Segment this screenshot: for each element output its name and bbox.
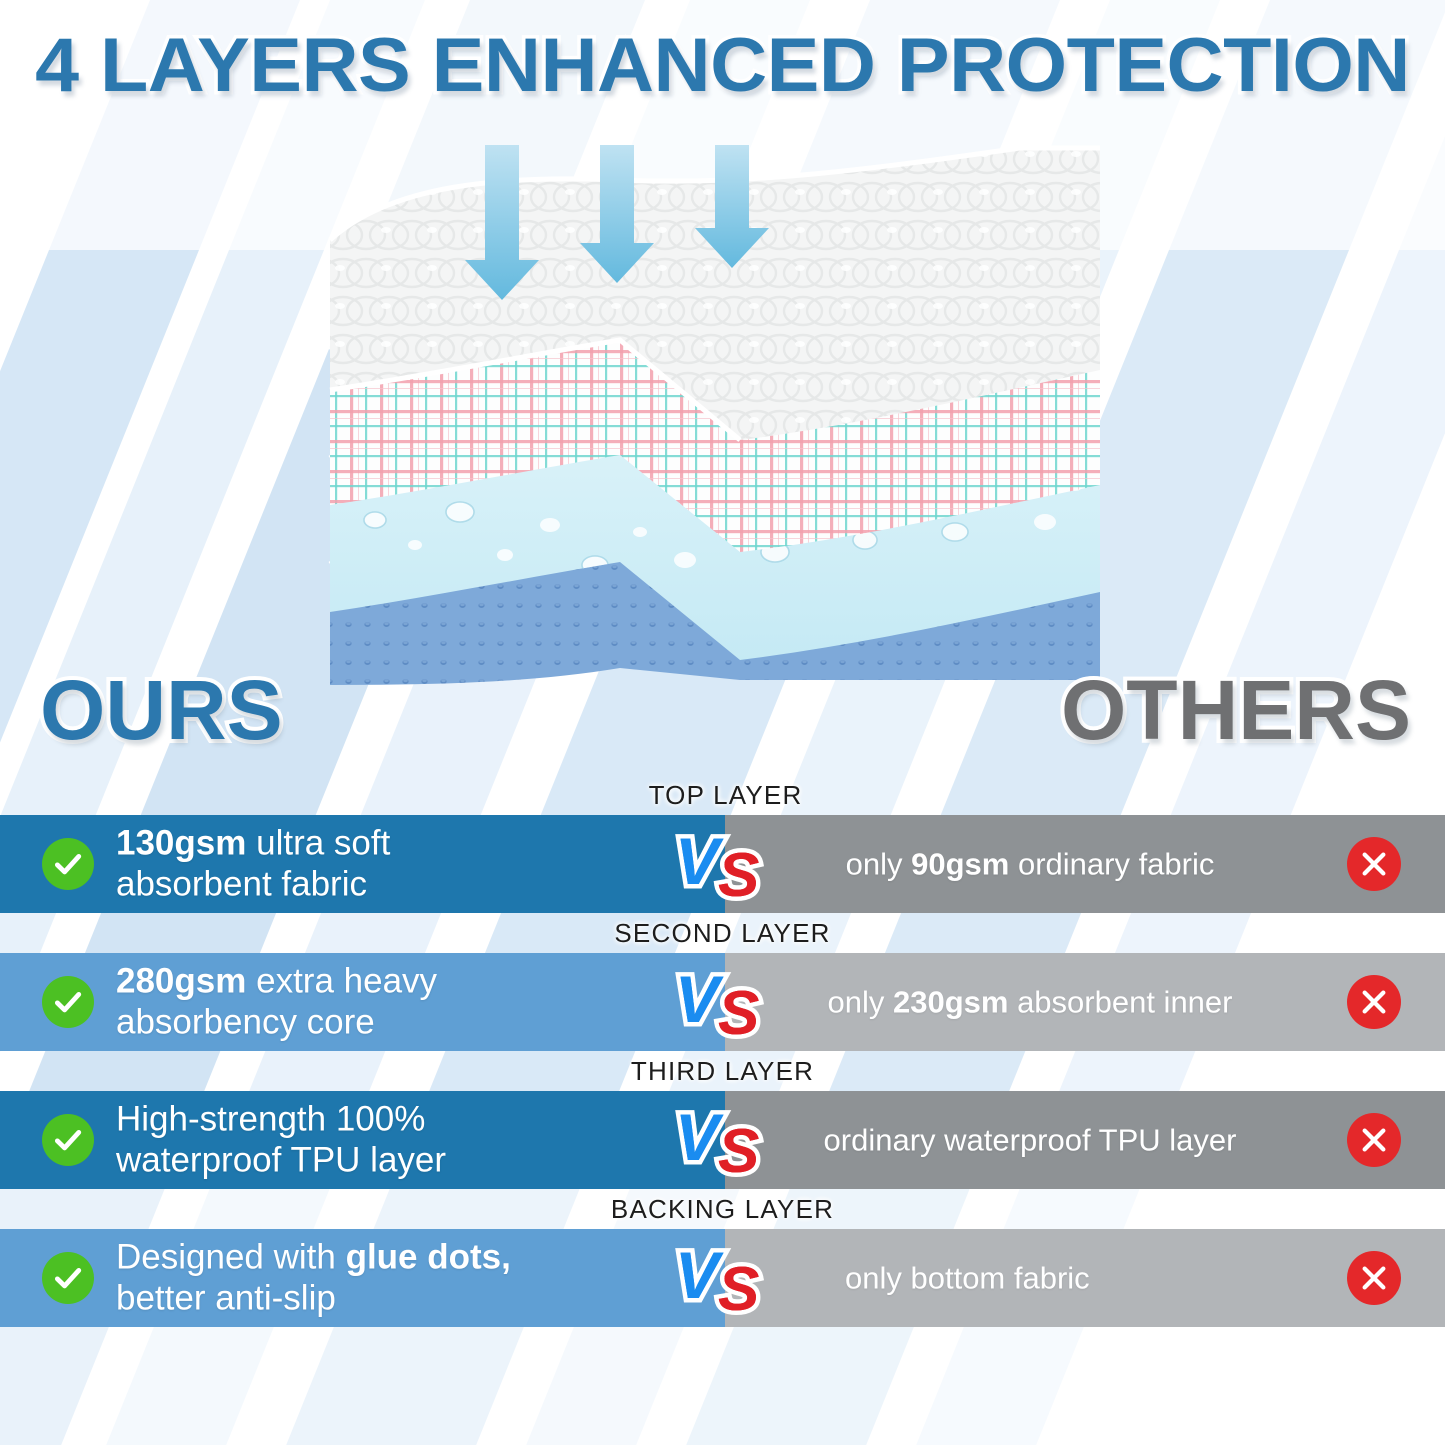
svg-text:V: V [675,824,724,898]
ours-feature-rest: Designed with [116,1237,346,1276]
ours-cell: High-strength 100% waterproof TPU layer [0,1091,725,1189]
comparison-table: TOP LAYER 130gsm ultra soft absorbent fa… [0,775,1445,1327]
others-pre: ordinary waterproof TPU layer [824,1122,1237,1157]
ours-feature-text: 130gsm ultra soft absorbent fabric [116,823,676,904]
ours-feature-rest: ultra soft [246,823,390,862]
layer-label-second: SECOND LAYER [0,913,1445,953]
others-feature-text: only bottom fabric [845,1259,1345,1296]
others-feature-text: only 230gsm absorbent inner [725,983,1335,1020]
ours-feature-text: High-strength 100% waterproof TPU layer [116,1099,676,1180]
vs-badge: V V S S [671,1236,779,1320]
cross-icon [1347,837,1401,891]
vs-badge: V V S S [671,960,779,1044]
others-cell: only 90gsm ordinary fabric [725,815,1445,913]
others-cell: only 230gsm absorbent inner [725,953,1445,1051]
others-highlight: 90gsm [911,846,1009,881]
others-post: ordinary fabric [1009,846,1214,881]
ours-feature-rest: High-strength 100% [116,1099,425,1138]
check-icon [42,1252,94,1304]
svg-text:V: V [675,1238,724,1312]
others-cell: ordinary waterproof TPU layer [725,1091,1445,1189]
others-feature-text: ordinary waterproof TPU layer [725,1121,1335,1158]
comparison-row-second-layer: 280gsm extra heavy absorbency core only … [0,953,1445,1051]
ours-cell: 280gsm extra heavy absorbency core [0,953,725,1051]
layer-label-top: TOP LAYER [0,775,1445,815]
cross-icon [1347,1251,1401,1305]
svg-text:V: V [675,962,724,1036]
others-cell: only bottom fabric [725,1229,1445,1327]
layer-label-backing: BACKING LAYER [0,1189,1445,1229]
ours-feature-text: Designed with glue dots, better anti-sli… [116,1237,676,1318]
ours-feature-highlight: 280gsm [116,961,246,1000]
others-pre: only [828,984,893,1019]
ours-feature-line2: absorbent fabric [116,864,367,903]
svg-text:S: S [718,841,759,906]
svg-text:S: S [718,1117,759,1182]
ours-feature-highlight: glue dots, [346,1237,511,1276]
others-feature-text: only 90gsm ordinary fabric [725,845,1335,882]
others-pre: only bottom fabric [845,1260,1090,1295]
ours-feature-line2: absorbency core [116,1002,375,1041]
others-highlight: 230gsm [893,984,1008,1019]
check-icon [42,838,94,890]
svg-text:S: S [718,979,759,1044]
svg-text:S: S [718,1255,759,1320]
comparison-row-third-layer: High-strength 100% waterproof TPU layer … [0,1091,1445,1189]
ours-feature-line2: better anti-slip [116,1278,336,1317]
check-icon [42,976,94,1028]
cross-icon [1347,975,1401,1029]
svg-text:V: V [675,1100,724,1174]
vs-badge: V V S S [671,1098,779,1182]
comparison-row-backing-layer: Designed with glue dots, better anti-sli… [0,1229,1445,1327]
layer-label-third: THIRD LAYER [0,1051,1445,1091]
cross-icon [1347,1113,1401,1167]
check-icon [42,1114,94,1166]
four-layer-illustration [320,140,1110,685]
ours-feature-highlight: 130gsm [116,823,246,862]
others-post: absorbent inner [1008,984,1232,1019]
vs-badge: V V S S [671,822,779,906]
ours-feature-text: 280gsm extra heavy absorbency core [116,961,676,1042]
page-title: 4 LAYERS ENHANCED PROTECTION [0,22,1445,109]
ours-cell: Designed with glue dots, better anti-sli… [0,1229,725,1327]
ours-cell: 130gsm ultra soft absorbent fabric [0,815,725,913]
ours-column-header: OURS [40,662,283,759]
ours-feature-line2: waterproof TPU layer [116,1140,446,1179]
comparison-row-top-layer: 130gsm ultra soft absorbent fabric only … [0,815,1445,913]
others-column-header: OTHERS [1061,662,1411,759]
ours-feature-rest: extra heavy [246,961,437,1000]
others-pre: only [846,846,911,881]
